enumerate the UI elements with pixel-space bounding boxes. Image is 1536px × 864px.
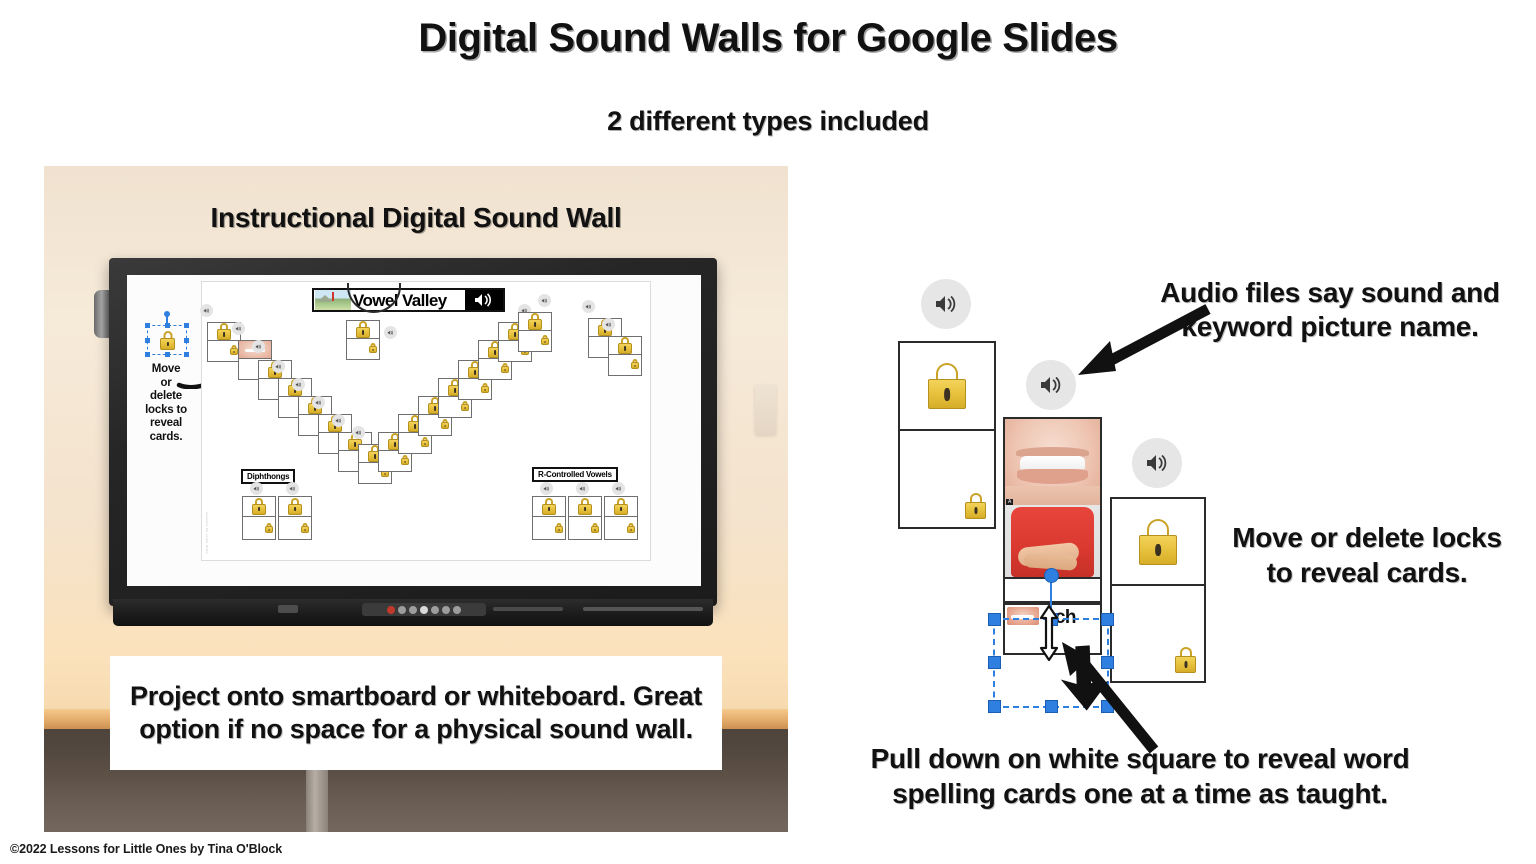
- resize-handle[interactable]: [145, 352, 150, 357]
- left-panel-heading: Instructional Digital Sound Wall: [44, 202, 788, 234]
- sound-card[interactable]: [242, 496, 276, 540]
- speaker-icon[interactable]: [612, 482, 625, 495]
- lock-icon[interactable]: [421, 437, 429, 447]
- card-blank-area: [900, 431, 994, 527]
- lock-icon[interactable]: [217, 323, 231, 340]
- card-lock-area: [533, 497, 565, 517]
- card-blank-area: [208, 341, 240, 361]
- speaker-icon[interactable]: [352, 426, 365, 439]
- card-lock-area: [279, 497, 311, 517]
- speaker-icon[interactable]: [384, 326, 397, 339]
- sound-card[interactable]: [532, 496, 566, 540]
- card-lock-area: [569, 497, 601, 517]
- arrow-to-selection-icon: [1046, 640, 1176, 755]
- rotate-handle-icon[interactable]: [1044, 568, 1059, 583]
- lock-icon[interactable]: [230, 345, 238, 355]
- resize-handle[interactable]: [165, 352, 170, 357]
- card-blank-area: [533, 517, 565, 539]
- section-label-r-controlled: R-Controlled Vowels: [532, 467, 618, 482]
- speaker-icon[interactable]: [286, 482, 299, 495]
- smartboard: Moveordeletelocks torevealcards.: [109, 258, 717, 616]
- lock-icon[interactable]: [441, 419, 449, 429]
- smartboard-bezel: Moveordeletelocks torevealcards.: [109, 258, 717, 606]
- lock-icon[interactable]: [265, 523, 273, 533]
- resize-handle[interactable]: [988, 700, 1001, 713]
- card-lock-area: [243, 497, 275, 517]
- card-lock-area: [1112, 499, 1204, 586]
- board-stand-pole: [306, 770, 328, 832]
- lock-icon[interactable]: [1139, 519, 1177, 565]
- sound-card[interactable]: [608, 336, 642, 376]
- slide-watermark: Lessons for Little Ones: [205, 512, 209, 554]
- card-lock-area: [519, 313, 551, 331]
- lock-icon[interactable]: [542, 498, 556, 515]
- speaker-icon[interactable]: [200, 304, 213, 317]
- speaker-icon[interactable]: [332, 414, 345, 427]
- card-blank-area: [347, 339, 379, 359]
- lock-icon[interactable]: [301, 523, 309, 533]
- speaker-icon[interactable]: [602, 318, 615, 331]
- speaker-icon[interactable]: [582, 300, 595, 313]
- lock-icon[interactable]: [160, 331, 175, 350]
- speaker-icon[interactable]: [921, 279, 971, 329]
- lock-icon[interactable]: [578, 498, 592, 515]
- card-lock-area: [605, 497, 637, 517]
- lock-icon[interactable]: [481, 383, 489, 393]
- resize-handle[interactable]: [1101, 613, 1114, 626]
- sound-card[interactable]: [518, 312, 552, 352]
- smartboard-screen[interactable]: Moveordeletelocks torevealcards.: [127, 275, 701, 586]
- google-slide[interactable]: Lessons for Little Ones Vowel Valley Dip…: [201, 281, 651, 561]
- resize-handle[interactable]: [145, 338, 150, 343]
- card-lock-area: [347, 321, 379, 339]
- resize-handle[interactable]: [145, 323, 150, 328]
- section-label-diphthongs: Diphthongs: [241, 469, 295, 484]
- sound-card[interactable]: [604, 496, 638, 540]
- resize-handle[interactable]: [184, 338, 189, 343]
- lock-icon[interactable]: [501, 363, 509, 373]
- valley-landscape-icon: [315, 290, 351, 310]
- speaker-icon[interactable]: [538, 294, 551, 307]
- card-blank-area: [609, 355, 641, 375]
- speaker-icon[interactable]: [540, 482, 553, 495]
- page-title: Digital Sound Walls for Google Slides: [0, 16, 1536, 61]
- card-lock-area: [900, 343, 994, 431]
- left-panel-caption: Project onto smartboard or whiteboard. G…: [110, 656, 722, 770]
- lock-icon[interactable]: [928, 363, 966, 409]
- speaker-icon[interactable]: [252, 340, 265, 353]
- speaker-icon[interactable]: [232, 322, 245, 335]
- lock-icon[interactable]: [591, 523, 599, 533]
- card-lock-area: [609, 337, 641, 355]
- board-sensor: [278, 605, 298, 613]
- speaker-icon[interactable]: [250, 482, 263, 495]
- speaker-icon[interactable]: [292, 378, 305, 391]
- smartboard-base-bezel: [113, 599, 713, 626]
- lock-icon[interactable]: [369, 343, 377, 353]
- locks-annotation: Move or delete locks to reveal cards.: [1222, 521, 1512, 590]
- rotate-handle-icon[interactable]: [164, 311, 170, 317]
- page-subtitle: 2 different types included: [0, 106, 1536, 137]
- card-blank-area: [279, 517, 311, 539]
- board-control-strip[interactable]: [362, 603, 486, 616]
- lock-icon[interactable]: [555, 523, 563, 533]
- copyright-notice: ©2022 Lessons for Little Ones by Tina O'…: [10, 842, 282, 856]
- light-switch-plate: [755, 385, 776, 435]
- vowel-valley-banner: Vowel Valley: [312, 288, 505, 312]
- sound-card[interactable]: [346, 320, 380, 360]
- lock-icon[interactable]: [614, 498, 628, 515]
- lock-icon[interactable]: [1175, 647, 1196, 673]
- card-blank-area: [243, 517, 275, 539]
- slide-canvas: Digital Sound Walls for Google Slides 2 …: [0, 0, 1536, 864]
- board-pen-tray-slot: [493, 607, 563, 611]
- resize-handle[interactable]: [988, 613, 1001, 626]
- card-blank-area: [519, 331, 551, 351]
- speaker-icon[interactable]: [465, 290, 503, 310]
- lock-icon[interactable]: [631, 359, 639, 369]
- child-in-red-shirt-photo: [1005, 505, 1100, 578]
- lock-icon[interactable]: [618, 337, 632, 354]
- audio-annotation: Audio files say sound and keyword pictur…: [1160, 276, 1500, 344]
- lock-icon[interactable]: [288, 498, 302, 515]
- board-pen-tray: [583, 607, 703, 611]
- resize-handle[interactable]: [988, 656, 1001, 669]
- resize-handle[interactable]: [184, 323, 189, 328]
- mouth-photo: [1005, 419, 1100, 505]
- speaker-icon[interactable]: [1132, 438, 1182, 488]
- lock-icon[interactable]: [965, 493, 986, 519]
- card-blank-area: [459, 379, 491, 399]
- speaker-icon[interactable]: [272, 360, 285, 373]
- lock-icon[interactable]: [528, 313, 542, 330]
- lock-icon[interactable]: [401, 455, 409, 465]
- card-blank-area: [569, 517, 601, 539]
- speaker-icon[interactable]: [576, 482, 589, 495]
- card-blank-area: [605, 517, 637, 539]
- sound-card-left[interactable]: [898, 341, 996, 529]
- lock-icon[interactable]: [356, 321, 370, 338]
- sound-card[interactable]: [568, 496, 602, 540]
- lock-icon[interactable]: [461, 401, 469, 411]
- speaker-icon[interactable]: [312, 396, 325, 409]
- lock-icon[interactable]: [541, 335, 549, 345]
- sound-card[interactable]: [278, 496, 312, 540]
- pull-down-annotation: Pull down on white square to reveal word…: [830, 742, 1450, 811]
- lock-icon[interactable]: [252, 498, 266, 515]
- lock-icon[interactable]: [627, 523, 635, 533]
